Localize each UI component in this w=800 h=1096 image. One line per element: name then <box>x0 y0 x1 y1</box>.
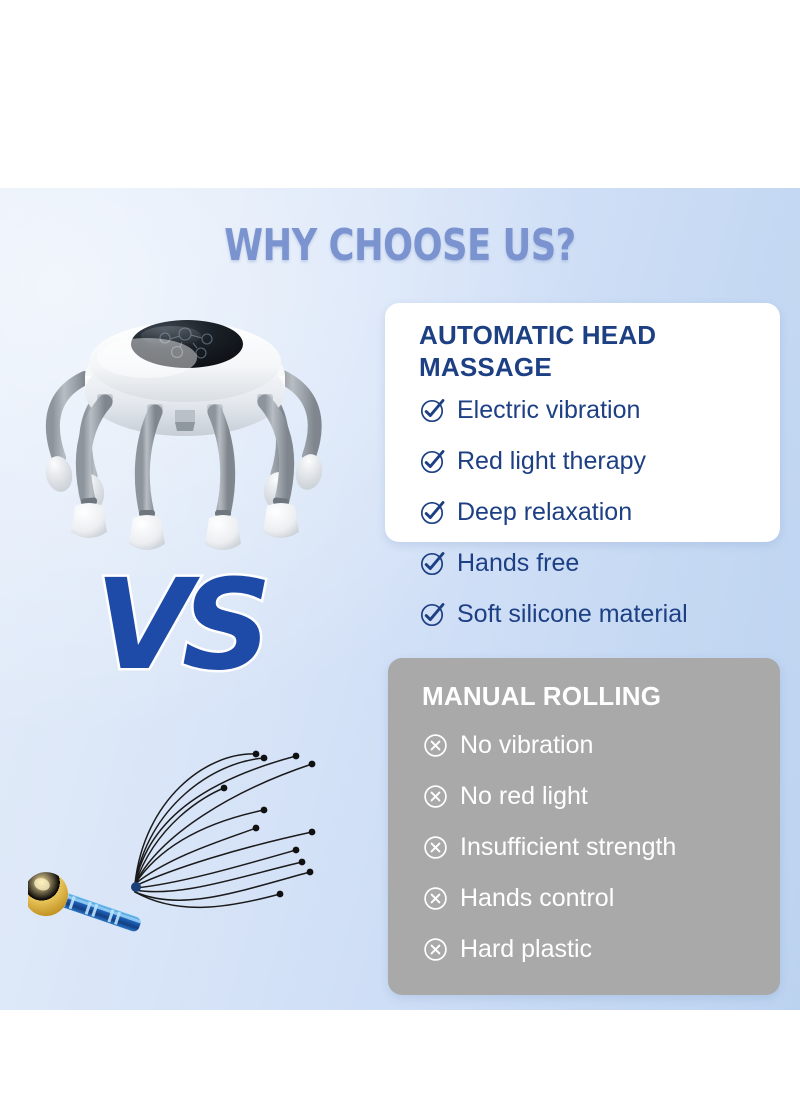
list-item: Electric vibration <box>419 385 780 436</box>
page-title: WHY CHOOSE US? <box>80 220 720 271</box>
check-circle-icon <box>419 499 446 526</box>
list-item-label: Deep relaxation <box>457 487 632 538</box>
x-circle-icon <box>422 885 449 912</box>
list-item: Hard plastic <box>422 924 780 975</box>
list-item-label: Red light therapy <box>457 436 646 487</box>
list-item: Hands free <box>419 538 780 589</box>
list-item-label: Hands control <box>460 873 614 924</box>
list-item: Hands control <box>422 873 780 924</box>
check-circle-icon <box>419 448 446 475</box>
cons-card-heading: MANUAL ROLLING <box>422 680 780 712</box>
list-item: No red light <box>422 771 780 822</box>
list-item-label: Soft silicone material <box>457 589 688 640</box>
manual-head-scratcher-photo <box>28 716 368 966</box>
cons-feature-list: No vibration No red light Insufficient s… <box>422 720 780 975</box>
list-item: Insufficient strength <box>422 822 780 873</box>
list-item-label: Hands free <box>457 538 579 589</box>
list-item-label: Hard plastic <box>460 924 592 975</box>
list-item-label: No red light <box>460 771 588 822</box>
pros-card-heading: AUTOMATIC HEAD MASSAGE <box>419 319 684 383</box>
list-item-label: No vibration <box>460 720 593 771</box>
x-circle-icon <box>422 783 449 810</box>
check-circle-icon <box>419 550 446 577</box>
check-circle-icon <box>419 601 446 628</box>
x-circle-icon <box>422 936 449 963</box>
vs-label: VS <box>95 563 262 688</box>
list-item: Deep relaxation <box>419 487 780 538</box>
list-item: Soft silicone material <box>419 589 780 640</box>
list-item: Red light therapy <box>419 436 780 487</box>
x-circle-icon <box>422 732 449 759</box>
check-circle-icon <box>419 397 446 424</box>
cons-card: MANUAL ROLLING No vibration No red light <box>388 658 780 995</box>
x-circle-icon <box>422 834 449 861</box>
list-item-label: Insufficient strength <box>460 822 676 873</box>
electric-head-massager-photo <box>25 298 345 588</box>
pros-card: AUTOMATIC HEAD MASSAGE Electric vibratio… <box>385 303 780 542</box>
list-item: No vibration <box>422 720 780 771</box>
list-item-label: Electric vibration <box>457 385 640 436</box>
pros-feature-list: Electric vibration Red light therapy Dee… <box>419 385 780 640</box>
promo-panel: WHY CHOOSE US? <box>0 188 800 1010</box>
